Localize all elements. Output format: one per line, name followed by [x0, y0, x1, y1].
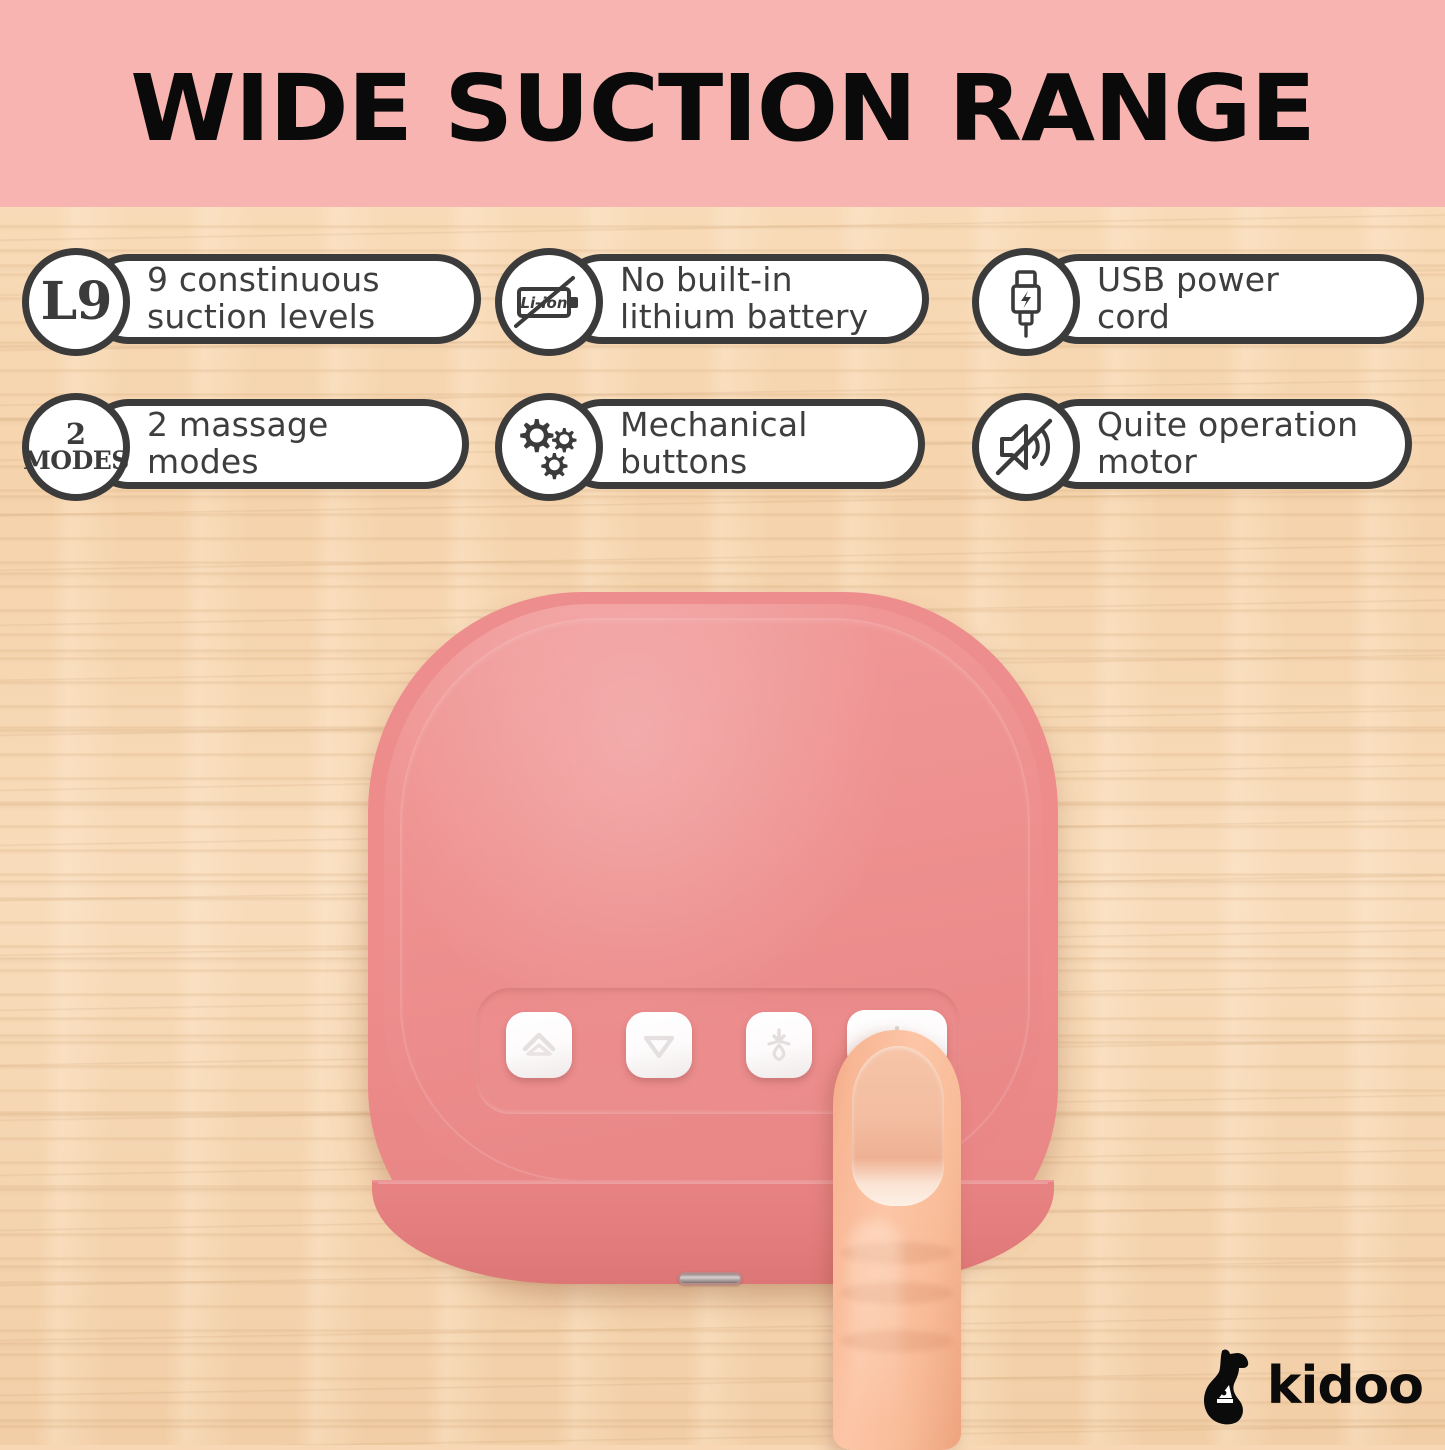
battery-crossed-glyph: Li-ion	[513, 266, 585, 338]
no-lithium-battery-icon: Li-ion	[495, 248, 603, 356]
finger-highlight	[849, 1220, 901, 1430]
droplet-suction-icon	[757, 1023, 801, 1067]
massage-mode-button[interactable]	[746, 1012, 812, 1078]
level-l9-label: L9	[41, 277, 112, 326]
usb-power-cord-icon	[972, 248, 1080, 356]
feature-label: USB power cord	[1041, 262, 1301, 336]
two-modes-icon: 2 MODES	[22, 393, 130, 501]
finger-pressing-power-button	[833, 1030, 961, 1450]
modes-word: MODES	[23, 448, 129, 473]
feature-label: Quite operation motor	[1041, 407, 1380, 481]
feature-label: No built-in lithium battery	[564, 262, 890, 336]
gears-icon	[495, 393, 603, 501]
brand-name: kidoo	[1267, 1360, 1423, 1412]
chevron-down-icon	[637, 1023, 681, 1067]
muted-speaker-glyph	[990, 411, 1062, 483]
feature-row-2: 2 massage modes 2 MODES Mechanical butto…	[0, 393, 1445, 538]
three-gears-glyph	[513, 411, 585, 483]
header-banner: WIDE SUCTION RANGE	[0, 0, 1445, 207]
suction-increase-button[interactable]	[506, 1012, 572, 1078]
feature-pill: Quite operation motor	[1034, 399, 1412, 489]
level-l9-icon: L9	[22, 248, 130, 356]
suction-decrease-button[interactable]	[626, 1012, 692, 1078]
feature-badge-grid: 9 constinuous suction levels L9 No built…	[0, 248, 1445, 538]
brand-logo: kidoo	[1199, 1347, 1423, 1425]
feature-pill: USB power cord	[1034, 254, 1424, 344]
chevron-up-icon	[517, 1023, 561, 1067]
usb-c-port	[678, 1272, 742, 1285]
feature-pill: Mechanical buttons	[557, 399, 925, 489]
mute-speaker-icon	[972, 393, 1080, 501]
feature-pill: 9 constinuous suction levels	[84, 254, 481, 344]
dog-silhouette-logo-icon	[1199, 1347, 1259, 1425]
modes-count: 2	[23, 421, 129, 449]
feature-label: Mechanical buttons	[564, 407, 830, 481]
two-modes-label: 2 MODES	[23, 421, 129, 474]
usb-plug-glyph	[990, 266, 1062, 338]
product-photo	[0, 0, 1445, 1445]
fingernail	[852, 1046, 944, 1206]
feature-pill: 2 massage modes	[84, 399, 469, 489]
feature-pill: No built-in lithium battery	[557, 254, 929, 344]
page-title: WIDE SUCTION RANGE	[130, 63, 1315, 155]
feature-label: 9 constinuous suction levels	[91, 262, 402, 336]
feature-row-1: 9 constinuous suction levels L9 No built…	[0, 248, 1445, 393]
